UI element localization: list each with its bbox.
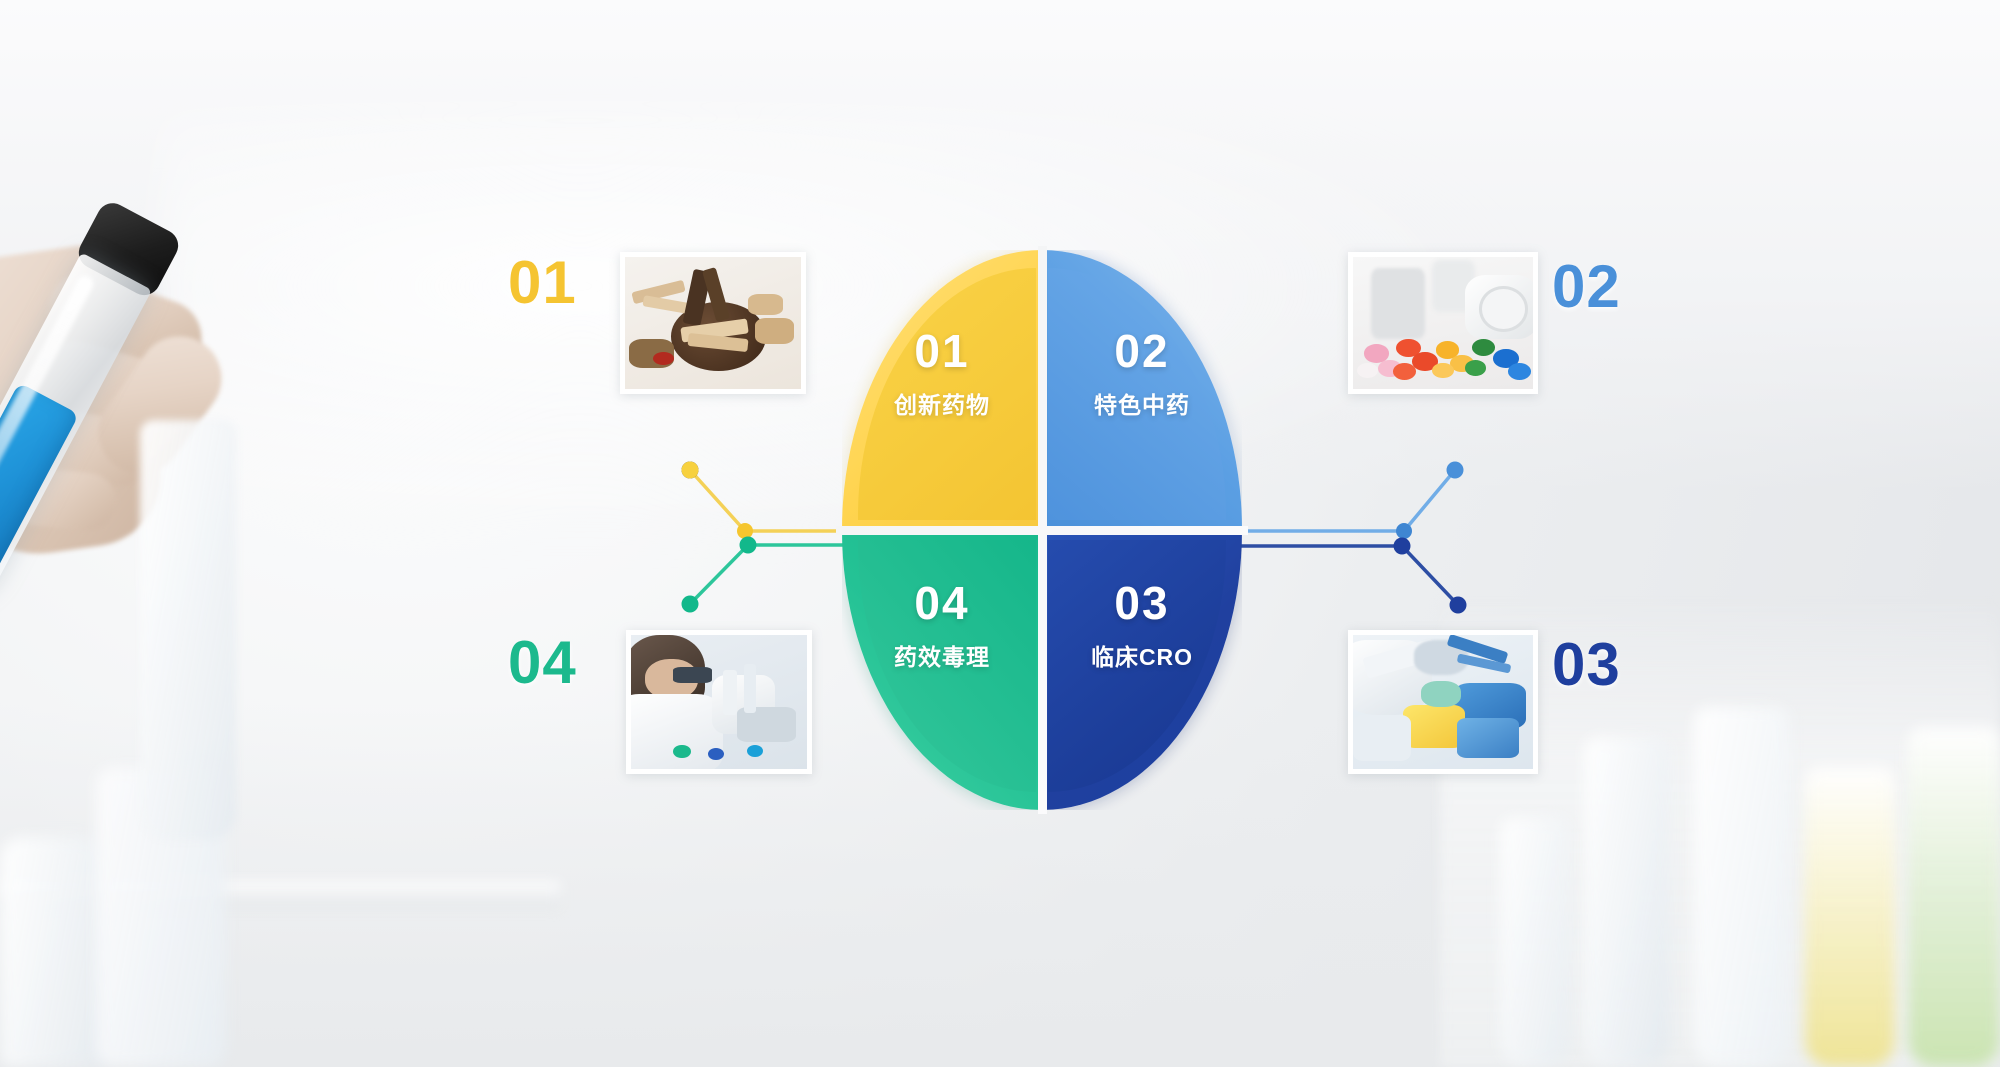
thumbnail-02-image [1353, 257, 1533, 389]
background-test-tube-2 [1694, 707, 1790, 1067]
quadrant-04-number: 04 [852, 580, 1032, 626]
background-test-tube-3-yellow [1805, 767, 1895, 1067]
background-left-vessel-1 [0, 837, 110, 1067]
thumbnail-01-herbal-medicine[interactable] [620, 252, 806, 394]
quadrant-01-label: 创新药物 [852, 386, 1032, 420]
outer-number-04: 04 [508, 628, 577, 697]
quadrant-01-text: 01 创新药物 [852, 328, 1032, 420]
background-graduated-tube [140, 420, 236, 840]
thumbnail-03-clinical[interactable] [1348, 630, 1538, 774]
outer-number-02: 02 [1552, 252, 1621, 321]
quadrant-03-text: 03 临床CRO [1052, 580, 1232, 672]
quadrant-03-label: 临床CRO [1052, 638, 1232, 672]
background-test-tube-1 [1584, 737, 1670, 1067]
outer-number-03: 03 [1552, 630, 1621, 699]
quadrant-wheel: 01 创新药物 02 特色中药 03 临床CRO 04 药效毒理 [842, 250, 1242, 810]
wheel-horizontal-divider [836, 526, 1248, 535]
scene-canvas: 01 创新药物 02 特色中药 03 临床CRO 04 药效毒理 01 02 0… [0, 0, 2000, 1067]
thumbnail-02-pills[interactable] [1348, 252, 1538, 394]
thumbnail-03-image [1353, 635, 1533, 769]
quadrant-02-label: 特色中药 [1052, 386, 1232, 420]
thumbnail-04-researcher[interactable] [626, 630, 812, 774]
quadrant-03-number: 03 [1052, 580, 1232, 626]
quadrant-02-number: 02 [1052, 328, 1232, 374]
quadrant-01-number: 01 [852, 328, 1032, 374]
thumbnail-04-image [631, 635, 807, 769]
quadrant-04-label: 药效毒理 [852, 638, 1032, 672]
quadrant-02-text: 02 特色中药 [1052, 328, 1232, 420]
thumbnail-01-image [625, 257, 801, 389]
background-test-tube-5 [1500, 817, 1570, 1067]
outer-number-01: 01 [508, 248, 577, 317]
quadrant-04-text: 04 药效毒理 [852, 580, 1032, 672]
background-test-tube-4-green [1908, 727, 2000, 1067]
